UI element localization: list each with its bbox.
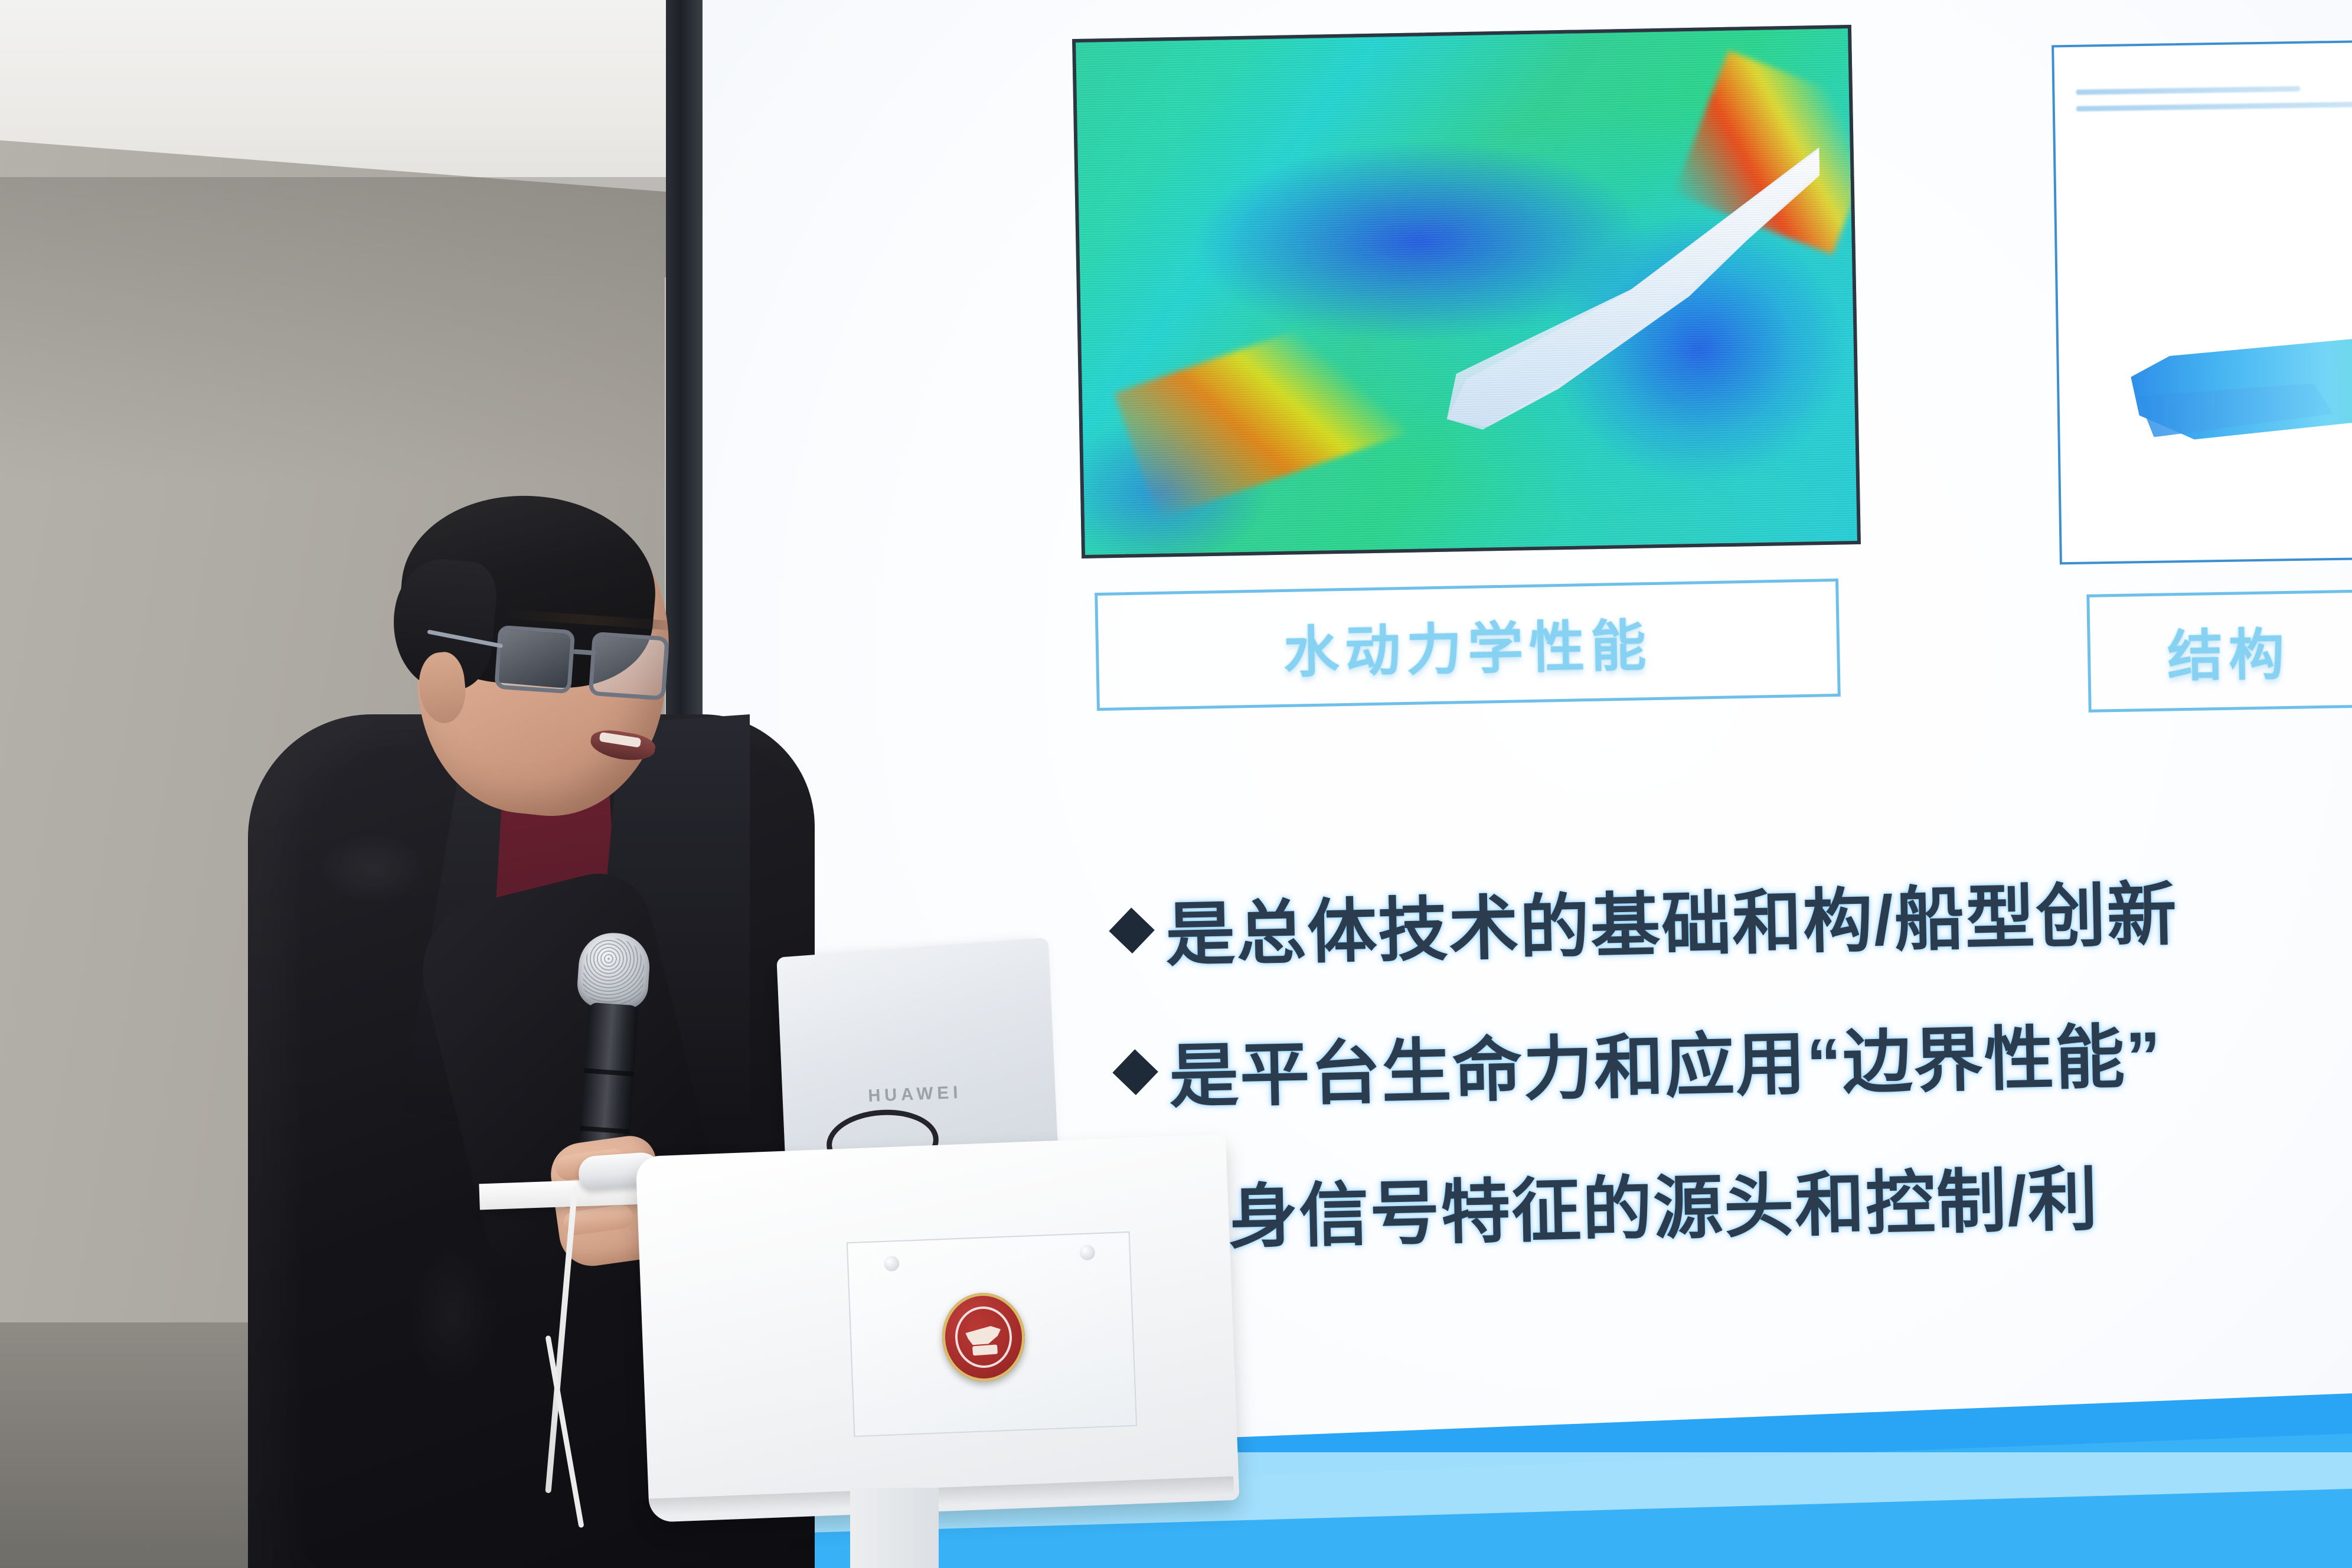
label-text-structure: 结构 — [2167, 610, 2291, 692]
fea-caption-line-1 — [2076, 86, 2300, 95]
bullet-line-3: 是隐身信号特征的源头和控制/利 — [1074, 1116, 2352, 1285]
projector-scanline-overlay — [1076, 28, 1857, 555]
diamond-bullet-icon: ◆ — [1113, 1034, 1159, 1101]
bullet-text-3: 是隐身信号特征的源头和控制/利 — [1085, 1142, 2099, 1264]
sign-holder-stud — [1079, 1244, 1095, 1260]
bullet-text-1: 是总体技术的基础和构/船型创新 — [1164, 857, 2178, 979]
eyeglass-lens-right — [589, 632, 669, 701]
label-box-structure: 结构 — [2086, 589, 2352, 713]
diamond-bullet-icon: ◆ — [1109, 892, 1155, 959]
seal-base-icon — [972, 1344, 998, 1355]
eyeglasses — [494, 625, 693, 710]
cfd-hydrodynamics-visualization — [1072, 25, 1861, 558]
laptop-brand-label: HUAWEI — [868, 1083, 962, 1106]
bullet-text-2: 是平台生命力和应用“边界性能” — [1168, 999, 2162, 1121]
structural-analysis-visualization — [2052, 40, 2352, 565]
fea-caption-line-2 — [2076, 102, 2352, 112]
lectern-post — [850, 1488, 939, 1568]
bullet-line-1: ◆ 是总体技术的基础和构/船型创新 — [1109, 832, 2352, 1001]
photo-scene: 水动力学性能 结构 ◆ 是总体技术的基础和构/船型创新 ◆ 是平台生命力和应用“… — [0, 0, 2352, 1568]
bullet-line-2: ◆ 是平台生命力和应用“边界性能” — [1112, 974, 2352, 1142]
eyeglass-lens-left — [494, 625, 575, 694]
label-text-hydrodynamics: 水动力学性能 — [1283, 601, 1653, 688]
seal-anvil-icon — [965, 1325, 1002, 1345]
eyeglass-bridge — [572, 649, 596, 655]
seal-inner-ring — [953, 1305, 1014, 1370]
wall-shadow — [0, 177, 706, 484]
wall-upper-panel — [0, 0, 706, 195]
sign-holder-stud — [884, 1256, 900, 1272]
label-box-hydrodynamics: 水动力学性能 — [1095, 579, 1841, 711]
slide-bullet-list: ◆ 是总体技术的基础和构/船型创新 ◆ 是平台生命力和应用“边界性能” 是隐身信… — [1110, 845, 2352, 1270]
